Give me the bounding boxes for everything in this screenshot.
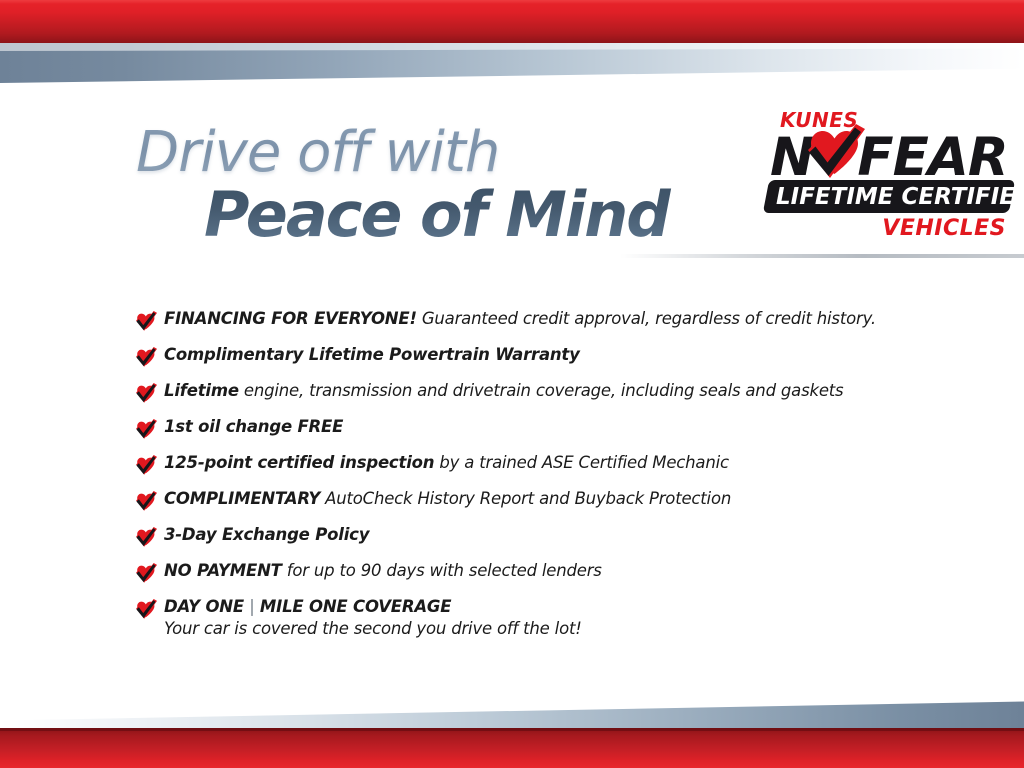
benefit-bold: 1st oil change FREE	[164, 417, 343, 436]
top-red-stripe	[0, 0, 1024, 43]
benefit-text: 1st oil change FREE	[164, 416, 343, 438]
benefit-text: Complimentary Lifetime Powertrain Warran…	[164, 344, 580, 366]
benefit-text: 125-point certified inspection by a trai…	[164, 452, 729, 474]
headline-divider	[620, 254, 1024, 258]
heart-check-icon	[134, 455, 158, 477]
benefit-text: Lifetime engine, transmission and drivet…	[164, 380, 843, 402]
top-banner	[0, 0, 1024, 86]
benefit-item-autocheck: COMPLIMENTARY AutoCheck History Report a…	[134, 488, 974, 513]
heart-check-icon	[134, 491, 158, 513]
benefit-bold: 125-point certified inspection	[164, 453, 434, 472]
heart-check-icon	[134, 383, 158, 405]
benefit-rest: engine, transmission and drivetrain cove…	[239, 381, 844, 400]
bottom-banner	[0, 694, 1024, 768]
benefit-item-inspection: 125-point certified inspection by a trai…	[134, 452, 974, 477]
headline-block: Drive off with Peace of Mind	[136, 122, 736, 250]
heart-check-icon	[134, 527, 158, 549]
benefit-bold-b: MILE ONE COVERAGE	[260, 597, 451, 616]
heart-check-icon	[134, 419, 158, 441]
benefit-item-no-payment: NO PAYMENT for up to 90 days with select…	[134, 560, 974, 585]
benefit-bold: Lifetime	[164, 381, 239, 400]
benefit-text: 3-Day Exchange Policy	[164, 524, 369, 546]
benefit-bold: NO PAYMENT	[164, 561, 282, 580]
logo-word-fear: FEAR	[857, 127, 1007, 188]
benefit-subtext: Your car is covered the second you drive…	[164, 617, 582, 641]
benefit-text: COMPLIMENTARY AutoCheck History Report a…	[164, 488, 731, 510]
bottom-red-stripe	[0, 728, 1024, 768]
benefit-bold-a: DAY ONE	[164, 597, 244, 616]
kunes-no-fear-logo: KUNES NOFEAR LIFETIME CERTIFIED VEHICLES	[766, 108, 1014, 244]
benefit-item-powertrain-warranty: Complimentary Lifetime Powertrain Warran…	[134, 344, 974, 369]
benefit-item-financing: FINANCING FOR EVERYONE! Guaranteed credi…	[134, 308, 974, 333]
benefit-bold: Complimentary Lifetime Powertrain Warran…	[164, 345, 580, 364]
benefit-rest: Guaranteed credit approval, regardless o…	[417, 309, 876, 328]
heart-check-icon	[134, 347, 158, 369]
benefit-rest: AutoCheck History Report and Buyback Pro…	[320, 489, 731, 508]
heart-check-icon	[134, 311, 158, 333]
benefit-text: FINANCING FOR EVERYONE! Guaranteed credi…	[164, 308, 876, 330]
benefit-item-exchange-policy: 3-Day Exchange Policy	[134, 524, 974, 549]
benefit-bold: FINANCING FOR EVERYONE!	[164, 309, 417, 328]
benefit-item-oil-change: 1st oil change FREE	[134, 416, 974, 441]
headline-line-2: Peace of Mind	[204, 180, 736, 250]
benefit-rest: by a trained ASE Certified Mechanic	[434, 453, 729, 472]
benefit-text: DAY ONE | MILE ONE COVERAGE	[164, 596, 582, 618]
benefit-text: NO PAYMENT for up to 90 days with select…	[164, 560, 602, 582]
heart-check-icon	[134, 599, 158, 621]
benefit-bold: COMPLIMENTARY	[164, 489, 320, 508]
heart-check-icon	[803, 124, 867, 184]
heart-check-icon	[134, 563, 158, 585]
benefit-text-group: DAY ONE | MILE ONE COVERAGE Your car is …	[164, 596, 582, 641]
logo-certified-bar-text: LIFETIME CERTIFIED	[776, 184, 1012, 210]
benefit-rest: for up to 90 days with selected lenders	[282, 561, 602, 580]
benefit-item-lifetime-coverage: Lifetime engine, transmission and drivet…	[134, 380, 974, 405]
headline-line-1: Drive off with	[136, 122, 736, 184]
benefits-list: FINANCING FOR EVERYONE! Guaranteed credi…	[134, 308, 974, 652]
benefit-bold: 3-Day Exchange Policy	[164, 525, 369, 544]
logo-vehicles-text: VEHICLES	[882, 216, 1006, 241]
benefit-item-day-one-mile-one: DAY ONE | MILE ONE COVERAGE Your car is …	[134, 596, 974, 641]
